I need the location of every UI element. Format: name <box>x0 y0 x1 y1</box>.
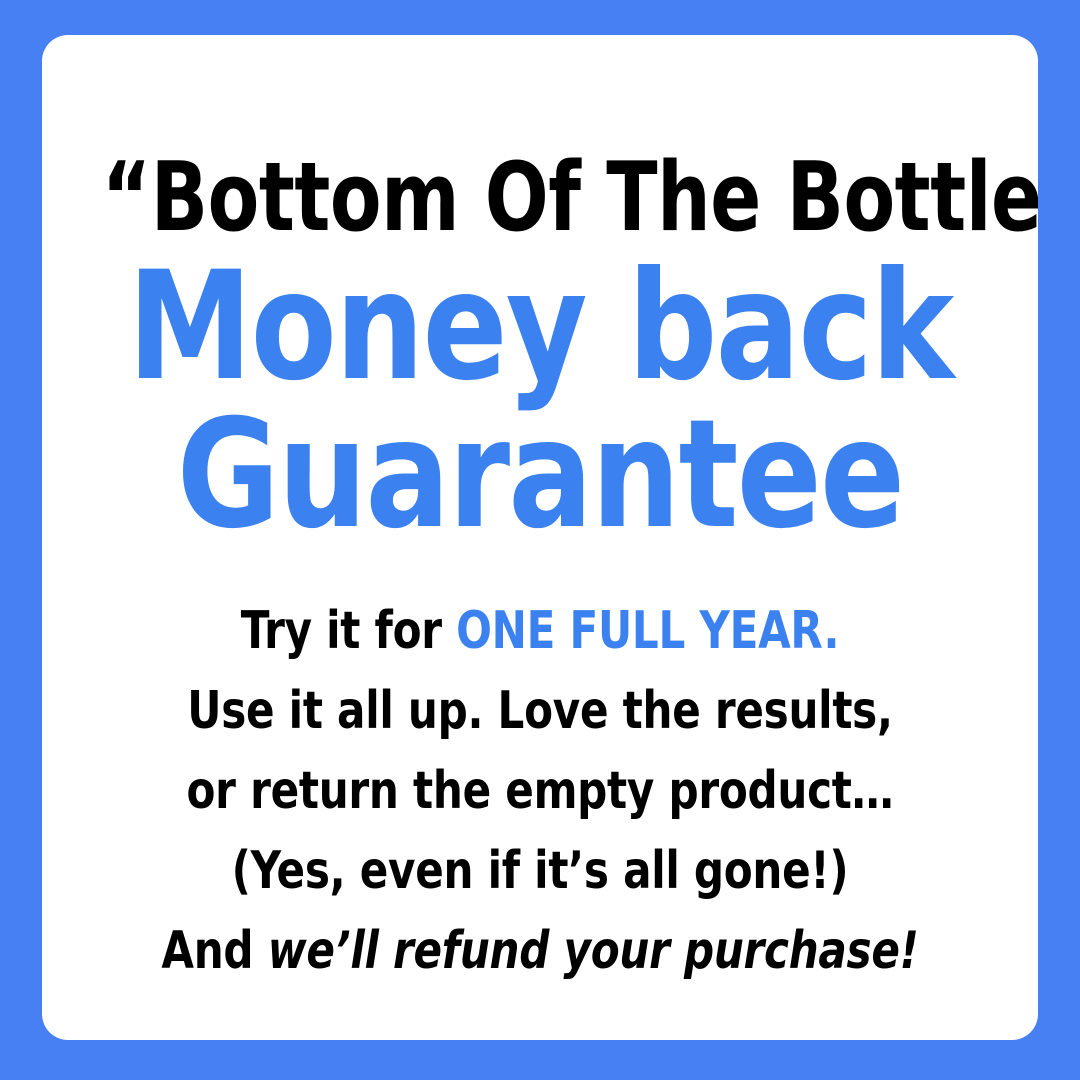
headline-line-1: Money back <box>77 253 1003 401</box>
body-line-3: or return the empty product… <box>92 751 988 831</box>
guarantee-card: “Bottom Of The Bottle” Money back Guaran… <box>42 35 1038 1040</box>
body-line-5-emphasis: we’ll refund your purchase! <box>268 921 919 981</box>
body-line-1-prefix: Try it for <box>241 601 456 661</box>
main-headline: Money back Guarantee <box>77 253 1003 549</box>
guarantee-poster: “Bottom Of The Bottle” Money back Guaran… <box>0 0 1080 1080</box>
card-content: “Bottom Of The Bottle” Money back Guaran… <box>42 35 1038 1040</box>
body-line-5: And we’ll refund your purchase! <box>92 911 988 991</box>
body-line-1-accent: ONE FULL YEAR. <box>456 601 839 661</box>
body-line-5-prefix: And <box>161 921 267 981</box>
kicker-headline: “Bottom Of The Bottle” <box>102 142 978 254</box>
body-line-4: (Yes, even if it’s all gone!) <box>92 831 988 911</box>
body-line-2: Use it all up. Love the results, <box>92 671 988 751</box>
body-line-1: Try it for ONE FULL YEAR. <box>92 591 988 671</box>
body-copy: Try it for ONE FULL YEAR. Use it all up.… <box>92 591 988 991</box>
headline-line-2: Guarantee <box>77 401 1003 549</box>
